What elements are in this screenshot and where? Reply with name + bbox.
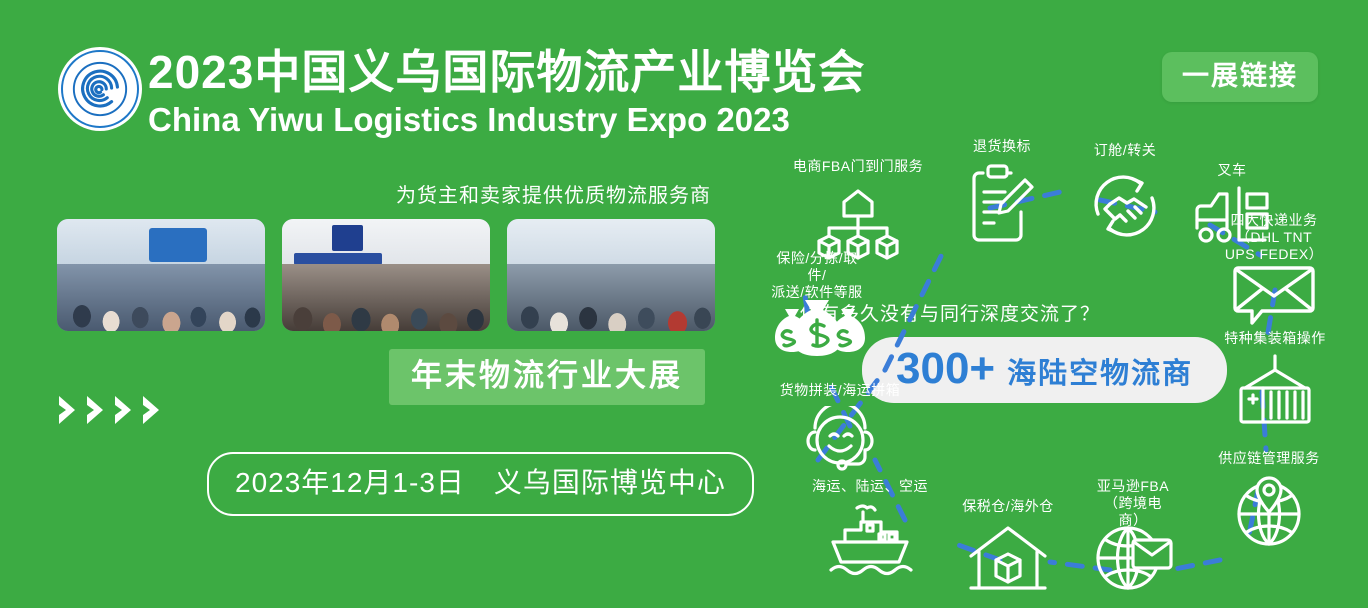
chevron-right-icon <box>84 393 110 427</box>
node-label: 特种集装箱操作 <box>1224 330 1326 347</box>
node-express-four: 四大快递业务 （DHL TNT UPS FEDEX） <box>1174 212 1368 342</box>
node-label: 电商FBA门到门服务 <box>793 158 923 175</box>
chevron-right-icon <box>56 393 82 427</box>
chevron-right-icon <box>112 393 138 427</box>
node-label: 四大快递业务 （DHL TNT UPS FEDEX） <box>1224 212 1324 263</box>
money-bags-icon <box>769 296 865 368</box>
photo-expo-visitors <box>507 219 715 331</box>
photo-exhibition-booth <box>282 219 490 331</box>
node-label: 保税仓/海外仓 <box>962 498 1053 515</box>
node-insurance-sort: 保险/分拣/取件/ 派送/软件等服务 <box>722 250 912 390</box>
title-block: 2023中国义乌国际物流产业博览会 China Yiwu Logistics I… <box>148 46 865 140</box>
node-label: 叉车 <box>1218 162 1247 179</box>
service-flow-diagram: 电商FBA门到门服务 退货换标 <box>700 130 1368 608</box>
service-subtitle: 为货主和卖家提供优质物流服务商 <box>396 183 711 209</box>
link-badge[interactable]: 一展链接 <box>1162 52 1318 102</box>
globe-pin-icon <box>1230 472 1308 550</box>
year-end-expo-badge: 年末物流行业大展 <box>389 349 705 405</box>
banner-header: 2023中国义乌国际物流产业博览会 China Yiwu Logistics I… <box>0 0 1368 150</box>
handshake-cycle-icon <box>1084 166 1166 246</box>
cargo-ship-icon <box>823 500 917 582</box>
shipping-container-icon <box>1233 352 1317 432</box>
headset-support-icon <box>798 406 882 482</box>
globe-mail-icon <box>1092 518 1174 596</box>
photo-strip <box>57 219 715 331</box>
warehouse-box-icon <box>965 522 1051 594</box>
chevron-arrows <box>56 393 166 427</box>
chevron-right-icon <box>140 393 166 427</box>
node-label: 供应链管理服务 <box>1218 450 1320 467</box>
promo-banner: 2023中国义乌国际物流产业博览会 China Yiwu Logistics I… <box>0 0 1368 608</box>
expo-logo-icon <box>58 47 142 131</box>
clipboard-pen-icon <box>969 162 1035 244</box>
node-label: 订舱/转关 <box>1094 142 1156 159</box>
page-title: 2023中国义乌国际物流产业博览会 <box>148 46 865 98</box>
date-venue-box: 2023年12月1-3日 义乌国际博览中心 <box>207 452 754 516</box>
node-label: 退货换标 <box>973 138 1031 155</box>
node-consolidation: 货物拼装/海运拼箱 <box>750 382 930 502</box>
envelope-icon <box>1232 258 1316 328</box>
node-special-container: 特种集装箱操作 <box>1182 330 1368 450</box>
photo-conference-audience <box>57 219 265 331</box>
